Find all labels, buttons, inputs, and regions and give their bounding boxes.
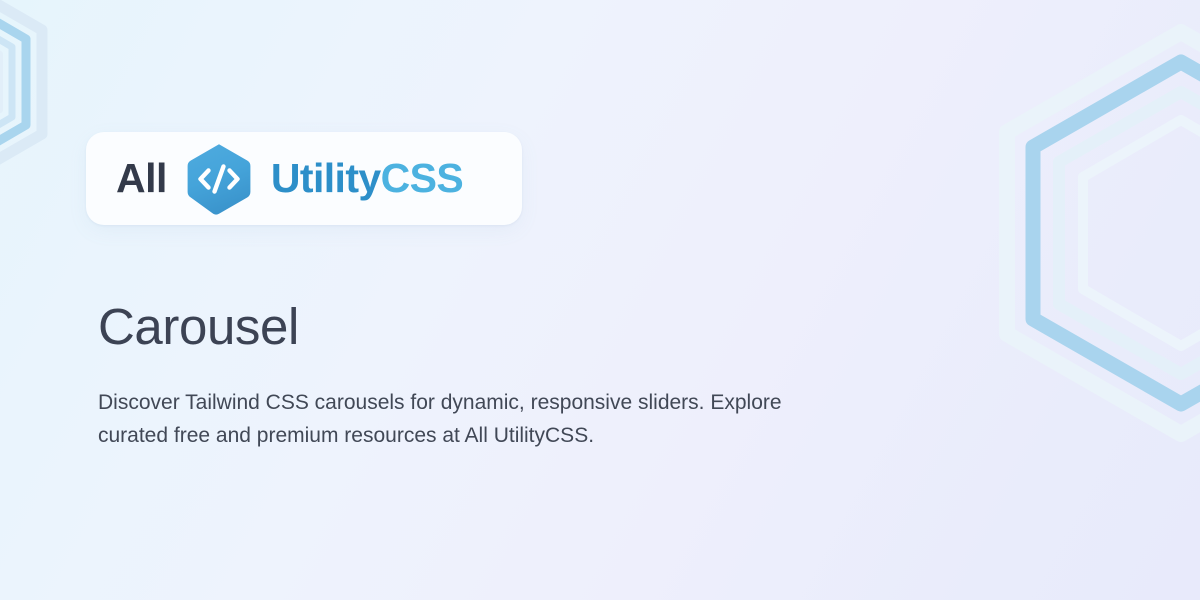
brand-wordmark: UtilityCSS <box>271 158 463 199</box>
brand-word-all: All <box>116 158 167 199</box>
page-title: Carousel <box>98 298 299 357</box>
brand-word-utility: Utility <box>271 155 381 201</box>
hexagon-outline-decoration-left <box>0 0 72 202</box>
brand-word-css: CSS <box>381 155 464 201</box>
brand-logo-card[interactable]: All UtilityCSS <box>86 132 522 225</box>
hexagon-outline-decoration-right <box>966 18 1200 448</box>
code-brackets-icon <box>185 142 253 216</box>
page-description: Discover Tailwind CSS carousels for dyna… <box>98 386 788 452</box>
hero-banner: All UtilityCSS <box>0 0 1200 600</box>
